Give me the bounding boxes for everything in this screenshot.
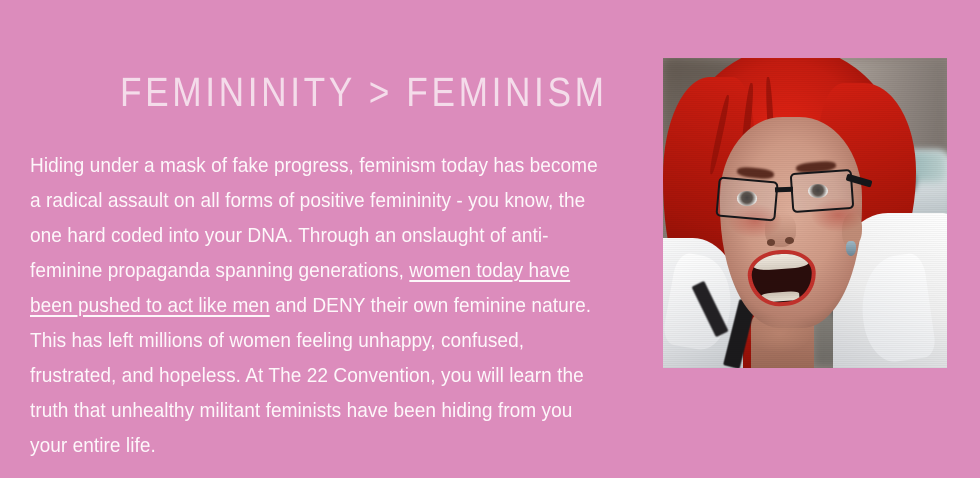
nostril-right <box>785 237 794 244</box>
teeth-upper <box>753 252 809 271</box>
teeth-lower <box>762 291 800 302</box>
body-paragraph: Hiding under a mask of fake progress, fe… <box>30 148 611 463</box>
photo-angry-woman <box>663 58 947 368</box>
photo-content <box>663 58 947 368</box>
chin <box>748 315 810 352</box>
glasses-lens-right <box>789 169 854 214</box>
glasses-lens-left <box>715 176 778 221</box>
nostril-left <box>767 239 776 246</box>
slide-root: FEMININITY > FEMINISM Hiding under a mas… <box>0 0 980 478</box>
page-title: FEMININITY > FEMINISM <box>120 66 608 118</box>
body-text-part-2: and DENY their own feminine nature. This… <box>30 294 591 457</box>
glasses-bridge <box>775 186 794 192</box>
